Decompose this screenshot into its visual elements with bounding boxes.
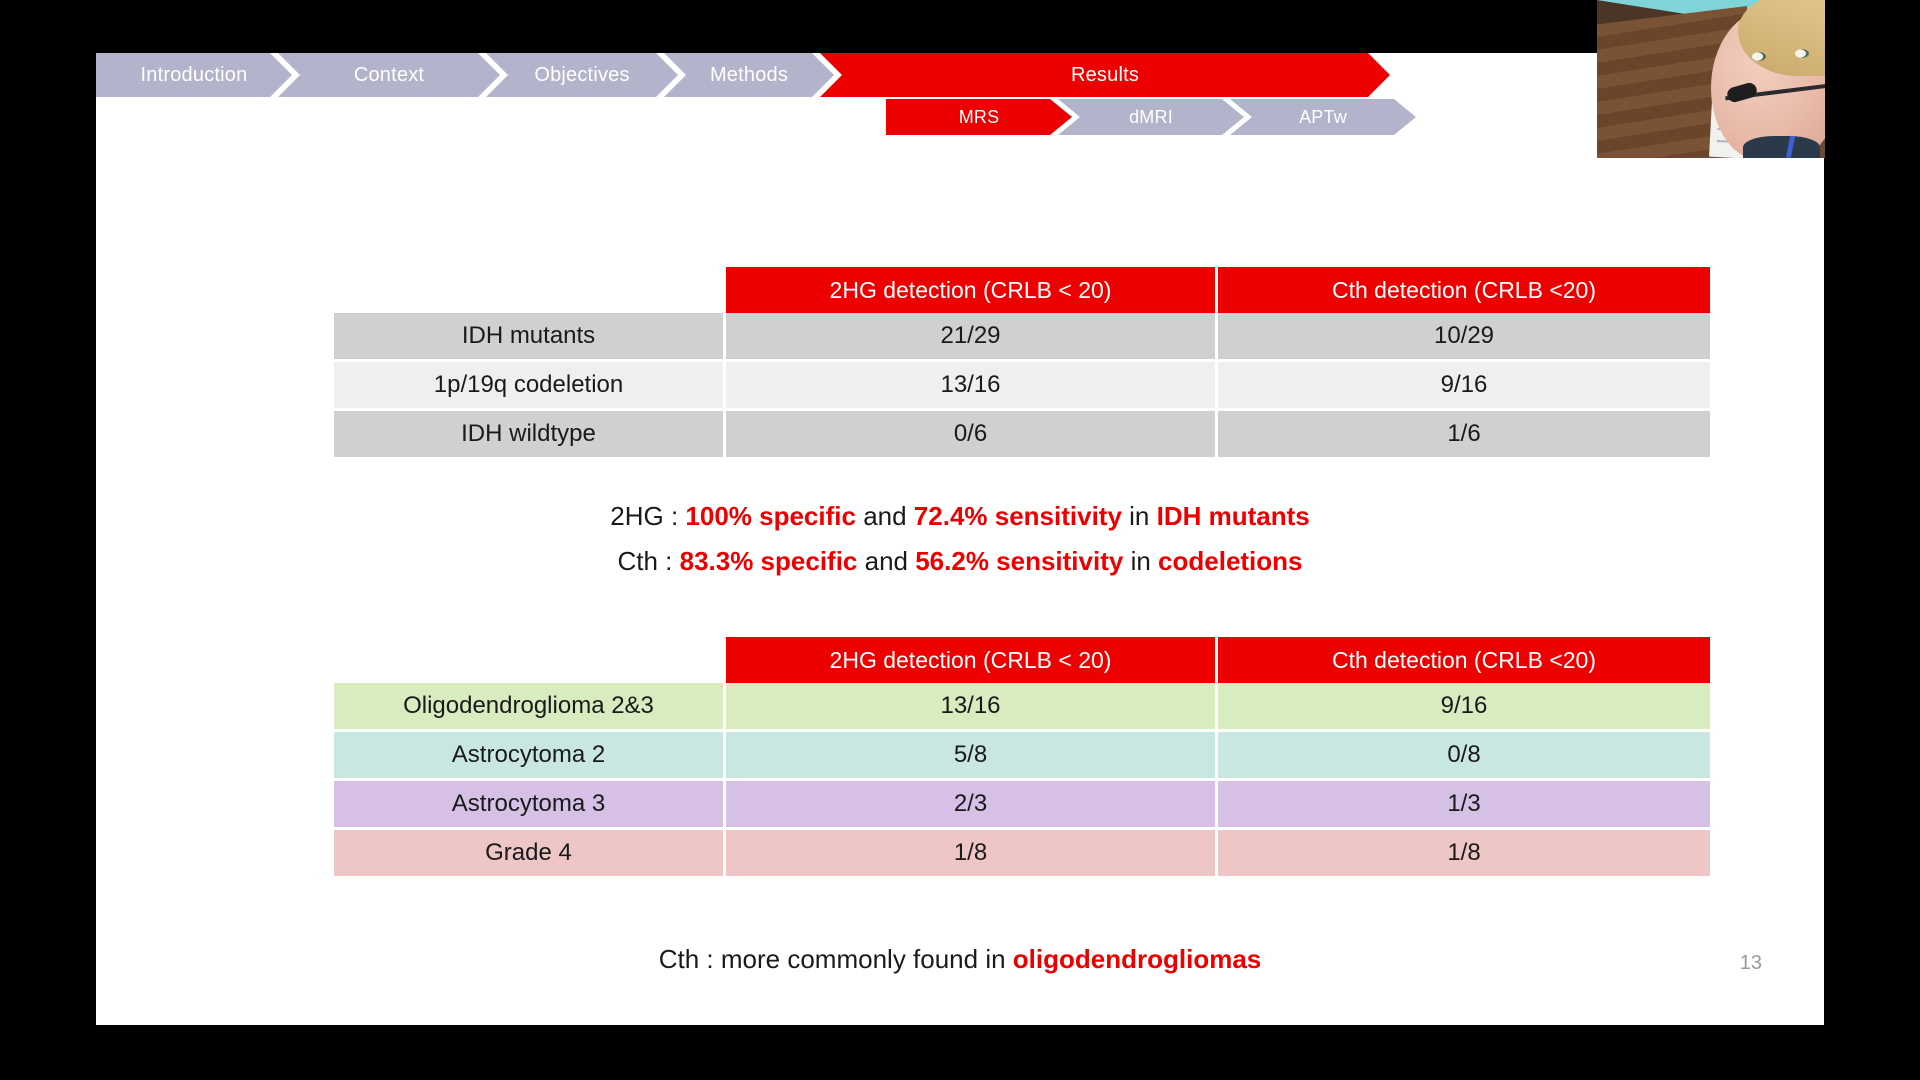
screen-root: IntroductionContextObjectivesMethodsResu… xyxy=(0,0,1920,1080)
nav-item-label: Introduction xyxy=(141,64,248,87)
row-label: 1p/19q codeletion xyxy=(334,362,726,411)
table-header-row: 2HG detection (CRLB < 20) Cth detection … xyxy=(334,267,1710,313)
row-value-2hg: 0/6 xyxy=(726,411,1218,460)
subnav-item-label: APTw xyxy=(1299,107,1347,128)
row-value-2hg: 13/16 xyxy=(726,683,1218,732)
row-value-cth: 1/8 xyxy=(1218,830,1710,879)
nav-item-label: Results xyxy=(1071,64,1139,87)
subnav-item-aptw[interactable]: APTw xyxy=(1230,99,1416,135)
nav-item-results[interactable]: Results xyxy=(820,53,1390,97)
row-label: Astrocytoma 2 xyxy=(334,732,726,781)
row-label: IDH mutants xyxy=(334,313,726,362)
row-value-cth: 1/6 xyxy=(1218,411,1710,460)
nav-item-context[interactable]: Context xyxy=(278,53,500,97)
row-value-2hg: 2/3 xyxy=(726,781,1218,830)
table-row: IDH mutants21/2910/29 xyxy=(334,313,1710,362)
nav-item-label: Methods xyxy=(710,64,788,87)
row-label: IDH wildtype xyxy=(334,411,726,460)
caption-highlight-3: codeletions xyxy=(1158,546,1302,576)
table-header-blank xyxy=(334,637,726,683)
row-label: Grade 4 xyxy=(334,830,726,879)
webcam-presenter-eye xyxy=(1752,52,1766,61)
nav-item-label: Objectives xyxy=(534,64,629,87)
table-row: 1p/19q codeletion13/169/16 xyxy=(334,362,1710,411)
table-row: Grade 41/81/8 xyxy=(334,830,1710,879)
row-value-2hg: 13/16 xyxy=(726,362,1218,411)
table-row: IDH wildtype0/61/6 xyxy=(334,411,1710,460)
caption-highlight-2: 56.2% sensitivity xyxy=(915,546,1123,576)
results-table-genotype: 2HG detection (CRLB < 20) Cth detection … xyxy=(334,267,1710,460)
webcam-presenter-eye xyxy=(1795,49,1809,58)
caption-highlight-1: oligodendrogliomas xyxy=(1013,944,1261,974)
caption-connector: and xyxy=(856,501,914,531)
summary-text-cth: Cth : 83.3% specific and 56.2% sensitivi… xyxy=(96,546,1824,577)
page-number: 13 xyxy=(1740,952,1762,975)
table-header-blank xyxy=(334,267,726,313)
webcam-presenter-shirt xyxy=(1743,136,1821,158)
nav-item-objectives[interactable]: Objectives xyxy=(486,53,678,97)
subnav-item-label: dMRI xyxy=(1129,107,1173,128)
table-body: Oligodendroglioma 2&313/169/16Astrocytom… xyxy=(334,683,1710,879)
row-value-cth: 9/16 xyxy=(1218,683,1710,732)
row-label: Oligodendroglioma 2&3 xyxy=(334,683,726,732)
row-value-cth: 9/16 xyxy=(1218,362,1710,411)
navigation-breadcrumb-sub: MRSdMRIAPTw xyxy=(886,99,1416,135)
presenter-webcam-overlay[interactable] xyxy=(1597,0,1825,158)
row-label: Astrocytoma 3 xyxy=(334,781,726,830)
results-table-tumor-type: 2HG detection (CRLB < 20) Cth detection … xyxy=(334,637,1710,879)
subnav-item-mrs[interactable]: MRS xyxy=(886,99,1072,135)
table-header-cth: Cth detection (CRLB <20) xyxy=(1218,267,1710,313)
nav-item-methods[interactable]: Methods xyxy=(664,53,834,97)
summary-text-2hg: 2HG : 100% specific and 72.4% sensitivit… xyxy=(96,501,1824,532)
nav-item-label: Context xyxy=(354,64,424,87)
subnav-item-dmri[interactable]: dMRI xyxy=(1058,99,1244,135)
row-value-2hg: 5/8 xyxy=(726,732,1218,781)
caption-prefix: Cth : xyxy=(617,546,679,576)
caption-highlight-2: 72.4% sensitivity xyxy=(914,501,1122,531)
caption-suffix: in xyxy=(1122,501,1157,531)
caption-highlight-1: 83.3% specific xyxy=(680,546,858,576)
row-value-cth: 1/3 xyxy=(1218,781,1710,830)
nav-item-introduction[interactable]: Introduction xyxy=(96,53,292,97)
table-row: Astrocytoma 25/80/8 xyxy=(334,732,1710,781)
row-value-2hg: 21/29 xyxy=(726,313,1218,362)
subnav-item-label: MRS xyxy=(959,107,1000,128)
caption-suffix: in xyxy=(1123,546,1158,576)
table-header-cth: Cth detection (CRLB <20) xyxy=(1218,637,1710,683)
table-row: Oligodendroglioma 2&313/169/16 xyxy=(334,683,1710,732)
navigation-breadcrumb-main: IntroductionContextObjectivesMethodsResu… xyxy=(96,53,1824,97)
caption-prefix: 2HG : xyxy=(610,501,685,531)
caption-highlight-3: IDH mutants xyxy=(1157,501,1310,531)
table-header-row: 2HG detection (CRLB < 20) Cth detection … xyxy=(334,637,1710,683)
row-value-cth: 10/29 xyxy=(1218,313,1710,362)
row-value-2hg: 1/8 xyxy=(726,830,1218,879)
caption-connector: and xyxy=(857,546,915,576)
table-body: IDH mutants21/2910/291p/19q codeletion13… xyxy=(334,313,1710,460)
table-row: Astrocytoma 32/31/3 xyxy=(334,781,1710,830)
presentation-slide: IntroductionContextObjectivesMethodsResu… xyxy=(96,53,1824,1025)
summary-text-oligodendroglioma: Cth : more commonly found in oligodendro… xyxy=(96,944,1824,975)
caption-highlight-1: 100% specific xyxy=(685,501,856,531)
row-value-cth: 0/8 xyxy=(1218,732,1710,781)
table-header-2hg: 2HG detection (CRLB < 20) xyxy=(726,637,1218,683)
caption-prefix: Cth : more commonly found in xyxy=(659,944,1013,974)
table-header-2hg: 2HG detection (CRLB < 20) xyxy=(726,267,1218,313)
